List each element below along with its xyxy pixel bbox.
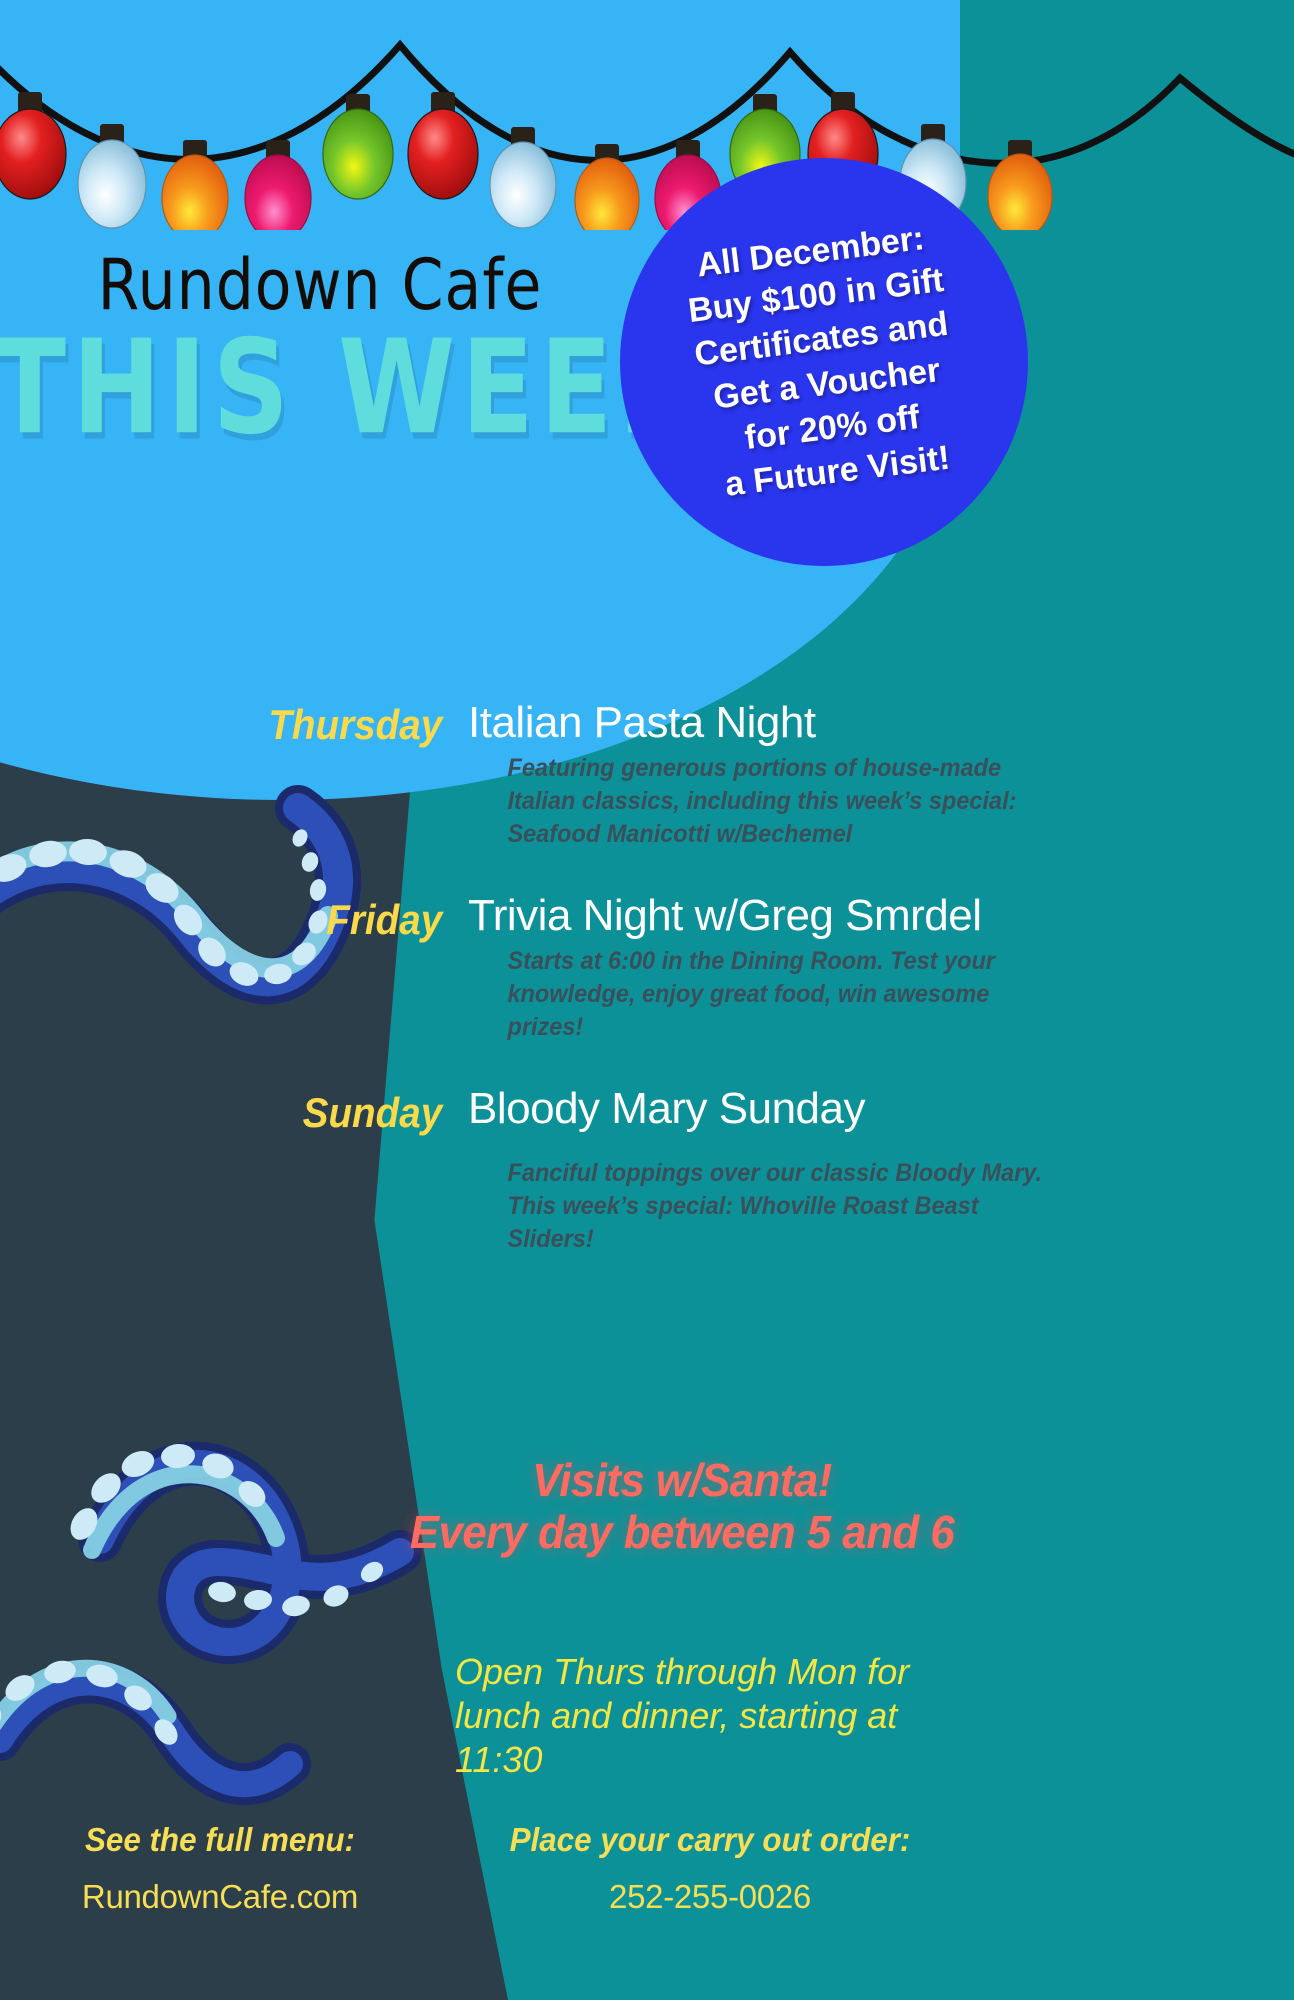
promo-badge-text: All December: Buy $100 in Gift Certifica… — [629, 208, 1019, 515]
event-row: Sunday Bloody Mary Sunday Fanciful toppi… — [0, 1086, 1294, 1255]
christmas-lights-icon — [0, 0, 1294, 230]
footer-order-heading: Place your carry out order: — [454, 1820, 967, 1860]
event-description: Featuring generous portions of house-mad… — [468, 752, 1057, 851]
footer-order-block: Place your carry out order: 252-255-0026 — [440, 1820, 980, 1916]
event-day-label: Thursday — [37, 700, 468, 746]
footer: See the full menu: RundownCafe.com Place… — [0, 1820, 1294, 2000]
hours-text: Open Thurs through Mon for lunch and din… — [455, 1650, 975, 1782]
this-week-heading: THIS WEEK — [0, 326, 646, 451]
footer-menu-block: See the full menu: RundownCafe.com — [10, 1820, 430, 1916]
events-list: Thursday Italian Pasta Night Featuring g… — [0, 700, 1294, 1278]
event-body: Trivia Night w/Greg Smrdel Starts at 6:0… — [468, 893, 1168, 1044]
event-body: Italian Pasta Night Featuring generous p… — [468, 700, 1168, 851]
event-row: Thursday Italian Pasta Night Featuring g… — [0, 700, 1294, 851]
santa-line-1: Visits w/Santa! — [101, 1455, 1264, 1507]
event-description: Starts at 6:00 in the Dining Room. Test … — [468, 945, 1057, 1044]
event-title: Bloody Mary Sunday — [468, 1086, 1168, 1132]
promo-badge: All December: Buy $100 in Gift Certifica… — [620, 158, 1028, 566]
footer-phone-number[interactable]: 252-255-0026 — [440, 1878, 980, 1916]
santa-line-2: Every day between 5 and 6 — [101, 1507, 1264, 1559]
footer-menu-heading: See the full menu: — [21, 1820, 420, 1860]
event-day-label: Friday — [37, 893, 468, 941]
santa-announcement: Visits w/Santa! Every day between 5 and … — [0, 1455, 1294, 1559]
event-row: Friday Trivia Night w/Greg Smrdel Starts… — [0, 893, 1294, 1044]
footer-website-link[interactable]: RundownCafe.com — [10, 1878, 430, 1916]
event-description: Fanciful toppings over our classic Blood… — [468, 1157, 1057, 1256]
title-block: Rundown Cafe THIS WEEK — [0, 250, 640, 426]
event-day-label: Sunday — [37, 1086, 468, 1134]
event-title: Trivia Night w/Greg Smrdel — [468, 893, 1168, 939]
event-body: Bloody Mary Sunday Fanciful toppings ove… — [468, 1086, 1168, 1255]
event-title: Italian Pasta Night — [468, 700, 1168, 746]
poster-canvas: Rundown Cafe THIS WEEK All December: Buy… — [0, 0, 1294, 2000]
